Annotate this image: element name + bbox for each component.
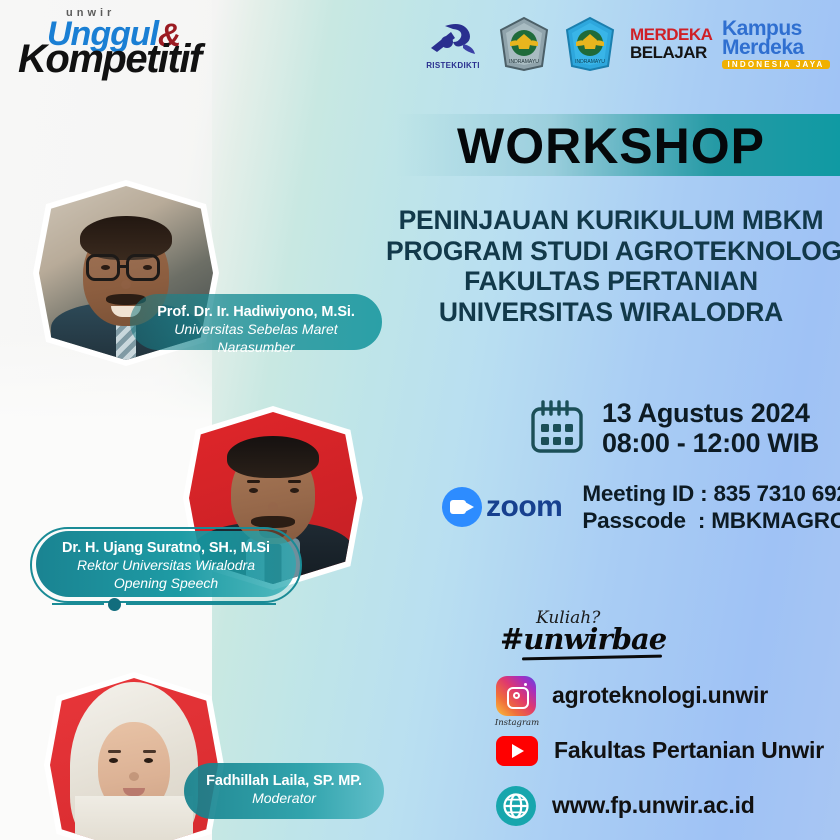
meeting-credentials: Meeting ID : 835 7310 6926 Passcode : MB… <box>582 480 840 534</box>
svg-text:INDRAMAYU: INDRAMAYU <box>509 59 539 65</box>
calendar-icon <box>528 399 586 457</box>
youtube-icon <box>496 736 538 766</box>
speaker-1-nose <box>121 280 131 289</box>
workshop-subtitle: PENINJAUAN KURIKULUM MBKM PROGRAM STUDI … <box>386 205 836 328</box>
subtitle-line-4: UNIVERSITAS WIRALODRA <box>386 297 836 328</box>
zoom-wordmark: zoom <box>486 490 562 524</box>
subtitle-line-1: PENINJAUAN KURIKULUM MBKM <box>386 205 836 236</box>
ristekdikti-mark-icon <box>425 18 481 60</box>
universitas-wiralodra-indramayu-logo: INDRAMAYU <box>498 16 550 72</box>
meeting-passcode: Passcode : MBKMAGRO <box>582 507 840 534</box>
speaker-3-hijab-front <box>75 796 193 840</box>
speaker-nameplate-2: Dr. H. Ujang Suratno, SH., M.Si Rektor U… <box>36 531 296 597</box>
ristekdikti-logo: RISTEKDIKTI <box>422 18 484 70</box>
youtube-channel: Fakultas Pertanian Unwir <box>554 737 824 764</box>
speaker-nameplate-3: Fadhillah Laila, SP. MP. Moderator <box>184 763 384 819</box>
kampus-merdeka-logo: Kampus Merdeka INDONESIA JAYA <box>722 19 830 69</box>
fakultas-pertanian-wiralodra-logo: INDRAMAYU <box>564 16 616 72</box>
globe-icon <box>496 786 536 826</box>
speaker-2-brow-left <box>247 480 260 483</box>
event-time: 08:00 - 12:00 WIB <box>602 428 819 458</box>
instagram-icon-wrap: Instagram <box>496 676 536 716</box>
speaker-3-nose <box>129 772 139 781</box>
nameplate-2-underline-left <box>52 603 104 605</box>
partner-logo-strip: RISTEKDIKTI INDRAMAYU INDRAMAYU <box>422 8 830 80</box>
svg-text:INDRAMAYU: INDRAMAYU <box>575 59 605 65</box>
speaker-3-brow-right <box>143 750 156 753</box>
video-camera-icon <box>442 487 482 527</box>
speaker-2-affiliation: Rektor Universitas Wiralodra <box>36 557 296 575</box>
speaker-1-name: Prof. Dr. Ir. Hadiwiyono, M.Si. <box>130 303 382 321</box>
workshop-poster: unwir Unggul & Kompetitif RISTEKDIKTI <box>0 0 840 840</box>
merdeka-text-2: Merdeka <box>722 38 830 57</box>
zoom-logo: zoom <box>442 487 562 527</box>
meeting-block: zoom Meeting ID : 835 7310 6926 Passcode… <box>442 480 840 534</box>
speaker-2-hair <box>227 436 319 478</box>
speaker-3-eye-left <box>109 758 118 763</box>
instagram-lens-icon <box>513 692 520 699</box>
nameplate-2-dot <box>108 598 121 611</box>
speaker-3-eye-right <box>144 758 153 763</box>
nameplate-2-underline-right <box>126 603 276 605</box>
social-row-website[interactable]: www.fp.unwir.ac.id <box>496 782 824 829</box>
speaker-3-affiliation: Moderator <box>184 790 384 808</box>
speaker-1-affiliation: Universitas Sebelas Maret <box>130 321 382 339</box>
speaker-1-glasses <box>86 254 166 281</box>
merdeka-belajar-logo: MERDEKA BELAJAR <box>630 27 708 60</box>
speaker-1-eye-right <box>143 265 152 270</box>
instagram-handle: agroteknologi.unwir <box>552 682 768 709</box>
instagram-caption: Instagram <box>493 718 541 728</box>
speaker-2-brow-right <box>288 480 301 483</box>
photo-background-3 <box>50 678 218 840</box>
workshop-title: WORKSHOP <box>396 118 826 174</box>
unwirbae-hashtag: #unwirbae <box>500 622 666 656</box>
speaker-2-eye-left <box>249 488 258 493</box>
indonesia-jaya-badge: INDONESIA JAYA <box>722 60 830 69</box>
speaker-2-eye-right <box>290 488 299 493</box>
social-links: Instagram agroteknologi.unwir Fakultas P… <box>496 672 824 837</box>
speaker-2-nose <box>268 502 278 511</box>
speaker-2-name: Dr. H. Ujang Suratno, SH., M.Si <box>36 539 296 557</box>
event-date: 13 Agustus 2024 <box>602 398 819 428</box>
speaker-3-brow-left <box>108 750 121 753</box>
social-row-youtube[interactable]: Fakultas Pertanian Unwir <box>496 727 824 774</box>
schedule-block: 13 Agustus 2024 08:00 - 12:00 WIB <box>528 398 819 458</box>
speaker-1-eye-left <box>101 265 110 270</box>
speaker-2-role: Opening Speech <box>36 575 296 593</box>
website-url: www.fp.unwir.ac.id <box>552 792 755 819</box>
subtitle-line-2: PROGRAM STUDI AGROTEKNOLOGI <box>386 236 836 267</box>
schedule-text: 13 Agustus 2024 08:00 - 12:00 WIB <box>602 398 819 458</box>
subtitle-line-3: FAKULTAS PERTANIAN <box>386 266 836 297</box>
speaker-3-name: Fadhillah Laila, SP. MP. <box>184 772 384 790</box>
belajar-text: BELAJAR <box>630 44 708 61</box>
merdeka-text: MERDEKA <box>630 27 708 43</box>
unwir-unggul-kompetitif-logo: unwir Unggul & Kompetitif <box>12 4 212 78</box>
photo-clip-3 <box>50 678 218 840</box>
ristekdikti-caption: RISTEKDIKTI <box>422 61 484 70</box>
social-row-instagram[interactable]: Instagram agroteknologi.unwir <box>496 672 824 719</box>
kompetitif-text: Kompetitif <box>18 39 201 79</box>
speaker-1-role: Narasumber <box>130 339 382 357</box>
meeting-id: Meeting ID : 835 7310 6926 <box>582 480 840 507</box>
unwirbae-campaign-logo: Kuliah? #unwirbae <box>500 608 690 660</box>
instagram-icon <box>496 676 536 716</box>
speaker-nameplate-1: Prof. Dr. Ir. Hadiwiyono, M.Si. Universi… <box>130 294 382 350</box>
